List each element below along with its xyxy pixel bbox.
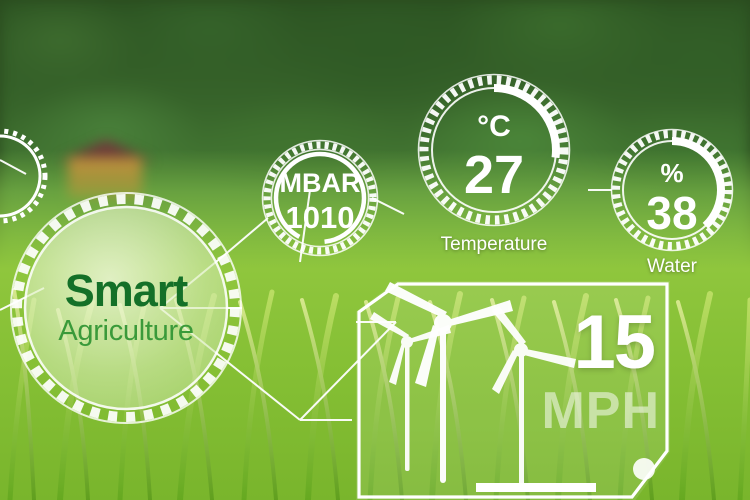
wind-panel-bottom-bar <box>476 483 596 492</box>
gauge-temperature[interactable]: °C 27 Temperature <box>414 70 574 230</box>
wind-turbine-icon <box>370 312 451 471</box>
pressure-value-text: 1010 <box>286 200 355 235</box>
hud-scene: Smart Agriculture MBAR 1010 °C 27 Temper… <box>0 0 750 500</box>
brand-subtitle: Agriculture <box>58 315 193 348</box>
water-value-text: 38 <box>646 187 697 239</box>
wind-panel-corner-dot <box>633 458 655 480</box>
brand-title: Smart <box>65 268 188 313</box>
temperature-value-text: 27 <box>464 145 524 205</box>
water-unit-text: % <box>660 158 683 188</box>
wind-speed-value: 15 <box>573 305 654 381</box>
wind-speed-panel[interactable]: 15 MPH <box>356 281 670 500</box>
pressure-unit-text: MBAR <box>280 168 361 198</box>
temperature-caption: Temperature <box>441 234 548 256</box>
water-caption: Water <box>647 256 697 278</box>
wind-speed-unit: MPH <box>541 385 660 437</box>
gauge-water[interactable]: % 38 Water <box>608 126 736 254</box>
temperature-unit-text: °C <box>477 110 511 143</box>
gauge-pressure[interactable]: MBAR 1010 <box>262 140 378 256</box>
smart-agriculture-badge[interactable]: Smart Agriculture <box>10 192 242 424</box>
